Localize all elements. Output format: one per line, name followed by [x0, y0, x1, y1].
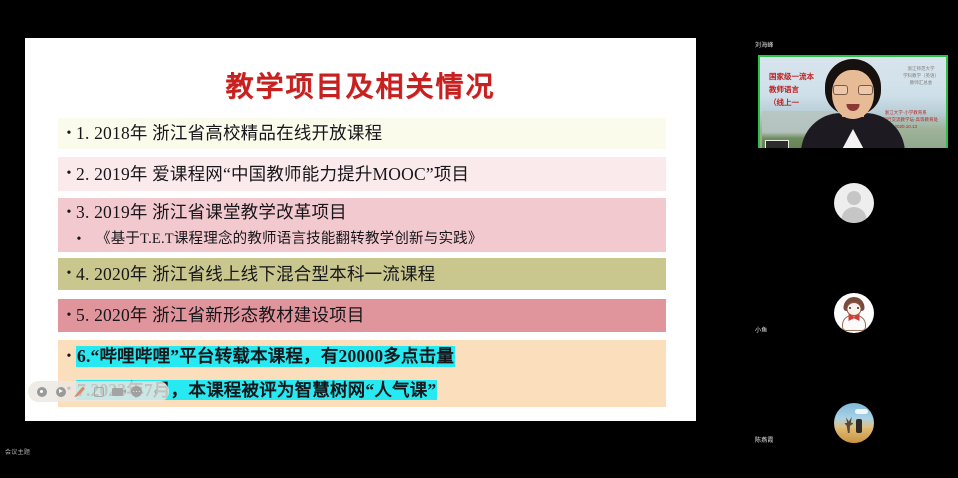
bullet-icon: •	[62, 350, 76, 364]
collapse-chevron-icon[interactable]: ‹	[149, 385, 162, 398]
avatar	[834, 293, 874, 333]
list-item-text: 5. 2020年 浙江省新形态教材建设项目	[76, 306, 365, 324]
list-item-text: 3. 2019年 浙江省课堂教学改革项目	[76, 203, 347, 221]
video-feed[interactable]: 国家级一流本 教师语言 （线上一 浙江师范大学 学科教学（英语） 教师汇总会 浙…	[758, 55, 948, 148]
more-icon[interactable]: ···	[130, 385, 143, 398]
page-title: 教学项目及相关情况	[25, 74, 696, 102]
bullet-icon: •	[62, 206, 76, 220]
bullet-icon: •	[62, 233, 96, 247]
select-frame-icon[interactable]	[92, 385, 105, 398]
list-item-text: 6.“哔哩哔哩”平台转载本课程，有20000多点击量	[76, 346, 455, 366]
list-item-text: 《基于T.E.T课程理念的教师语言技能翻转教学创新与实践》	[96, 232, 483, 247]
meeting-topic-label: 会议主题	[5, 450, 30, 456]
shared-slide[interactable]: 教学项目及相关情况 • 1. 2018年 浙江省高校精品在线开放课程 • 2. …	[25, 38, 696, 421]
list-item-text: 4. 2020年 浙江省线上线下混合型本科一流课程	[76, 265, 435, 283]
list-item: • 2. 2019年 爱课程网“中国教师能力提升MOOC”项目	[58, 157, 666, 191]
bullet-icon: •	[62, 127, 76, 141]
pen-icon[interactable]	[73, 385, 86, 398]
participant-name: 刘海峰	[755, 43, 774, 49]
meeting-screen-share-view: 教学项目及相关情况 • 1. 2018年 浙江省高校精品在线开放课程 • 2. …	[0, 0, 958, 467]
avatar	[834, 403, 874, 443]
play-dot-icon[interactable]	[54, 385, 67, 398]
participant-name: 陈燕霞	[755, 438, 774, 444]
list-item-text: 2. 2019年 爱课程网“中国教师能力提升MOOC”项目	[76, 165, 469, 183]
list-item-text: 1. 2018年 浙江省高校精品在线开放课程	[76, 124, 382, 142]
list-item: • 3. 2019年 浙江省课堂教学改革项目	[58, 198, 666, 227]
bullet-icon: •	[62, 309, 76, 323]
list-item-highlighted: • 6.“哔哩哔哩”平台转载本课程，有20000多点击量	[58, 340, 666, 373]
bullet-icon: •	[62, 167, 76, 181]
list-item: • 1. 2018年 浙江省高校精品在线开放课程	[58, 118, 666, 149]
record-dot-icon[interactable]	[35, 385, 48, 398]
glasses-icon	[833, 85, 873, 95]
video-clip-icon[interactable]	[111, 385, 124, 398]
participant-tile[interactable]: 陈燕霞	[750, 368, 958, 478]
participant-tile[interactable]	[750, 148, 958, 258]
list-item: • 4. 2020年 浙江省线上线下混合型本科一流课程	[58, 258, 666, 290]
participant-tile[interactable]: 小鱼	[750, 258, 958, 368]
presentation-toolbar[interactable]: ··· ‹	[28, 381, 169, 402]
participant-name: 小鱼	[755, 328, 767, 334]
list-item: • 5. 2020年 浙江省新形态教材建设项目	[58, 299, 666, 332]
list-item-sub: • 《基于T.E.T课程理念的教师语言技能翻转教学创新与实践》	[58, 227, 666, 252]
bullet-icon: •	[62, 267, 76, 281]
slide-bullet-list: • 1. 2018年 浙江省高校精品在线开放课程 • 2. 2019年 爱课程网…	[58, 118, 666, 407]
screen-logo	[765, 140, 789, 148]
participant-strip: 刘海峰 国家级一流本 教师语言 （线上一 浙江师范大学 学科教学（英语） 教师汇…	[750, 38, 958, 467]
participant-tile-active-speaker[interactable]: 刘海峰 国家级一流本 教师语言 （线上一 浙江师范大学 学科教学（英语） 教师汇…	[750, 38, 958, 148]
person-silhouette	[793, 57, 913, 148]
avatar	[834, 183, 874, 223]
